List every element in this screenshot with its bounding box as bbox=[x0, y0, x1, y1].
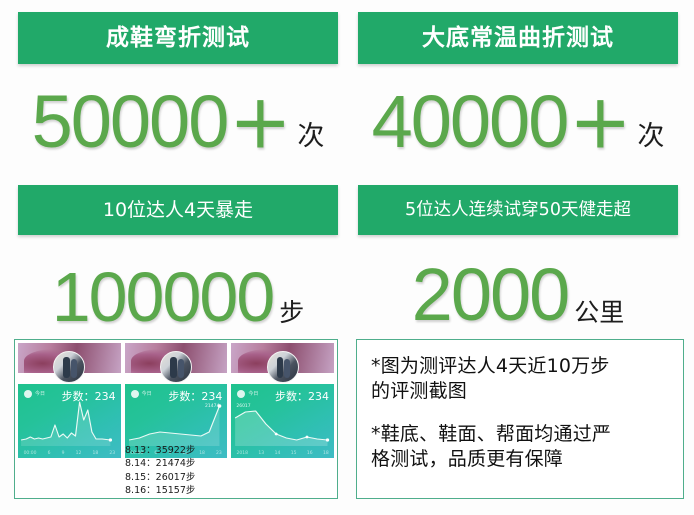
stat-banner: 大底常温曲折测试 bbox=[358, 12, 678, 64]
stat-figure-row: 100000 步 bbox=[18, 251, 338, 329]
stat-block-fifty-days: 5位达人连续试穿50天健走超 2000 公里 bbox=[358, 185, 678, 329]
step-line-chart bbox=[18, 384, 121, 458]
axis-tick: 00:00 bbox=[24, 451, 37, 456]
axis-tick: 13 bbox=[258, 451, 264, 456]
infographic-page: 成鞋弯折测试 50000 ＋ 次 大底常温曲折测试 40000 ＋ 次 10位达… bbox=[0, 0, 694, 515]
avatar bbox=[160, 351, 192, 383]
steps-list-item: 8.15：26017步 bbox=[125, 471, 195, 484]
axis-tick: 23 bbox=[109, 451, 115, 456]
step-line-chart bbox=[231, 384, 334, 458]
axis-tick: 15 bbox=[291, 451, 297, 456]
stat-block-ten-walkers: 10位达人4天暴走 100000 步 bbox=[18, 185, 338, 329]
chart-axis-ticks: 00:00 6 9 12 18 23 bbox=[18, 451, 121, 456]
axis-tick: 6 bbox=[48, 451, 51, 456]
axis-tick: 14 bbox=[275, 451, 281, 456]
note-1-line-2: 的评测截图 bbox=[371, 379, 671, 404]
stat-block-shoe-flex-test: 成鞋弯折测试 50000 ＋ 次 bbox=[18, 12, 338, 156]
axis-tick: 2018 bbox=[237, 451, 248, 456]
stat-unit: 步 bbox=[279, 300, 304, 325]
phone-screenshot-3: 今日 步数：234 26017 2018 13 14 15 bbox=[231, 343, 334, 495]
stat-number: 100000 bbox=[52, 265, 274, 329]
stat-banner: 5位达人连续试穿50天健走超 bbox=[358, 185, 678, 235]
stat-figure-row: 2000 公里 bbox=[358, 251, 678, 329]
stat-figure-row: 40000 ＋ 次 bbox=[358, 78, 678, 156]
phone-screenshot-1: 今日 步数：234 00:00 6 9 12 18 23 bbox=[18, 343, 121, 495]
axis-tick: 16 bbox=[307, 451, 313, 456]
stat-block-outsole-flex-test: 大底常温曲折测试 40000 ＋ 次 bbox=[358, 12, 678, 156]
step-chart-card: 今日 步数：234 00:00 6 9 12 18 23 bbox=[18, 384, 121, 458]
stat-banner: 成鞋弯折测试 bbox=[18, 12, 338, 64]
screenshot-evidence-panel: 今日 步数：234 00:00 6 9 12 18 23 bbox=[14, 339, 338, 499]
stat-number: 2000 bbox=[412, 261, 569, 329]
axis-tick: 18 bbox=[323, 451, 329, 456]
note-1-line-1: *图为测评达人4天近10万步 bbox=[371, 354, 671, 379]
avatar bbox=[267, 351, 299, 383]
plus-sign: ＋ bbox=[229, 97, 291, 154]
step-chart-card: 今日 步数：234 26017 2018 13 14 15 bbox=[231, 384, 334, 458]
notes-spacer bbox=[371, 404, 671, 422]
plus-sign: ＋ bbox=[569, 97, 631, 154]
chart-axis-ticks: 2018 13 14 15 16 18 bbox=[231, 451, 334, 456]
axis-tick: 9 bbox=[62, 451, 65, 456]
axis-tick: 18 bbox=[199, 451, 205, 456]
note-2-line-1: *鞋底、鞋面、帮面均通过严 bbox=[371, 422, 671, 447]
avatar bbox=[53, 351, 85, 383]
axis-tick: 18 bbox=[93, 451, 99, 456]
stat-banner: 10位达人4天暴走 bbox=[18, 185, 338, 235]
stat-figure-row: 50000 ＋ 次 bbox=[18, 78, 338, 156]
steps-list-item: 8.14：21474步 bbox=[125, 457, 195, 470]
steps-list-item: 8.16：15157步 bbox=[125, 484, 195, 497]
stat-unit: 次 bbox=[297, 123, 324, 150]
note-2-line-2: 格测试，品质更有保障 bbox=[371, 447, 671, 472]
axis-tick: 12 bbox=[76, 451, 82, 456]
stat-number: 50000 bbox=[32, 88, 228, 156]
steps-list-item: 8.13：35922步 bbox=[125, 444, 195, 457]
stat-unit: 公里 bbox=[574, 300, 624, 325]
notes-panel: *图为测评达人4天近10万步 的评测截图 *鞋底、鞋面、帮面均通过严 格测试，品… bbox=[356, 339, 684, 499]
stat-unit: 次 bbox=[637, 123, 664, 150]
axis-tick: 23 bbox=[216, 451, 222, 456]
daily-steps-list: 8.13：35922步 8.14：21474步 8.15：26017步 8.16… bbox=[125, 444, 195, 498]
stat-number: 40000 bbox=[372, 88, 568, 156]
